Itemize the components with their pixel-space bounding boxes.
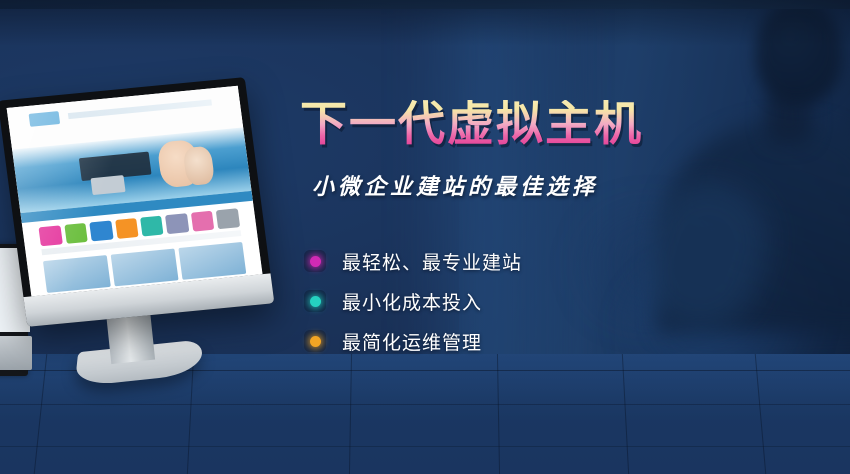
- floor-line-horizontal: [0, 446, 850, 447]
- bullet-dot-glyph: [310, 336, 321, 347]
- list-item-label: 最轻松、最专业建站: [342, 248, 522, 275]
- list-item: 最轻松、最专业建站: [304, 241, 720, 281]
- list-item: 最小化成本投入: [304, 281, 720, 321]
- list-item: 最简化运维管理: [304, 321, 720, 361]
- bullet-dot-glyph: [310, 256, 321, 267]
- bullet-dot-glyph: [310, 296, 321, 307]
- bullet-dot-icon: [304, 330, 326, 352]
- bullet-dot-icon: [304, 250, 326, 272]
- list-item-label: 最小化成本投入: [342, 288, 482, 315]
- text-content: 下一代虚拟主机 小微企业建站的最佳选择 最轻松、最专业建站 最小化成本投入 最简…: [300, 100, 720, 361]
- monitor-screen: [7, 86, 263, 297]
- floor-line-horizontal: [0, 404, 850, 405]
- page-title: 下一代虚拟主机: [300, 100, 720, 147]
- website-mockup: [7, 86, 263, 297]
- feature-list: 最轻松、最专业建站 最小化成本投入 最简化运维管理: [304, 241, 720, 361]
- list-item-label: 最简化运维管理: [342, 328, 482, 355]
- screen-glare: [7, 86, 263, 297]
- page-subtitle: 小微企业建站的最佳选择: [312, 169, 720, 201]
- monitor-body: [0, 77, 274, 327]
- top-vignette: [0, 0, 850, 46]
- hero-banner: 下一代虚拟主机 小微企业建站的最佳选择 最轻松、最专业建站 最小化成本投入 最简…: [0, 0, 850, 474]
- bullet-dot-icon: [304, 290, 326, 312]
- desktop-monitor: [12, 88, 280, 388]
